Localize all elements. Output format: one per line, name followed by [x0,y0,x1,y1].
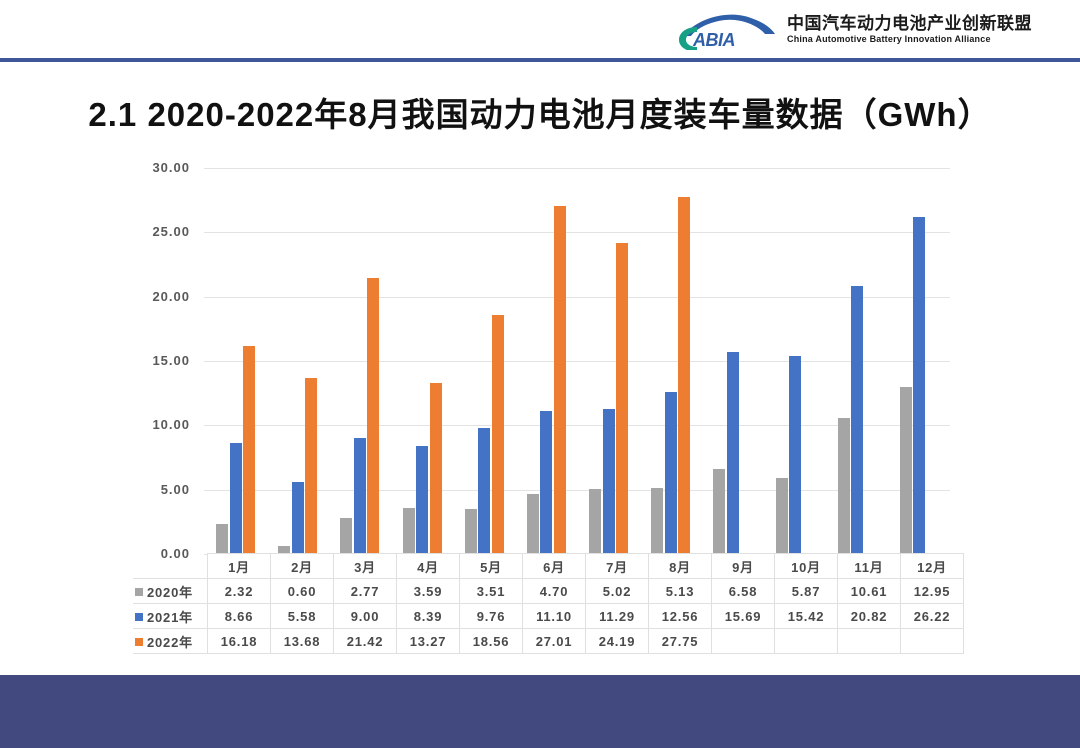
table-column-header: 5月 [460,554,523,579]
table-cell: 13.27 [397,629,460,654]
bar-2022年-1月 [243,346,255,554]
table-cell: 9.00 [334,604,397,629]
table-header-row: 1月2月3月4月5月6月7月8月9月10月11月12月 [133,554,964,579]
table-cell: 10.61 [838,579,901,604]
bar-2021年-4月 [416,446,428,554]
bar-2020年-6月 [527,494,539,554]
bar-group [888,168,950,554]
page-header: ABIA 中国汽车动力电池产业创新联盟 China Automotive Bat… [0,0,1080,58]
bar-2021年-2月 [292,482,304,554]
bar-group [515,168,577,554]
table-column-header: 3月 [334,554,397,579]
bar-group [639,168,701,554]
table-corner-cell [133,554,208,579]
plot-area: 0.005.0010.0015.0020.0025.0030.00 [204,168,950,554]
table-cell: 20.82 [838,604,901,629]
brand-logo-block: ABIA 中国汽车动力电池产业创新联盟 China Automotive Bat… [669,8,1032,52]
bar-2021年-1月 [230,443,242,554]
bar-group [453,168,515,554]
bar-2022年-6月 [554,206,566,554]
table-column-header: 10月 [775,554,838,579]
header-divider [0,58,1080,62]
bar-group [577,168,639,554]
legend-swatch-icon [135,638,143,646]
footer-band [0,675,1080,748]
table-cell: 3.59 [397,579,460,604]
bar-2020年-3月 [340,518,352,554]
y-axis-tick-label: 15.00 [114,353,190,368]
table-row: 2022年16.1813.6821.4213.2718.5627.0124.19… [133,629,964,654]
page-title: 2.1 2020-2022年8月我国动力电池月度装车量数据（GWh） [0,88,1080,136]
table-column-header: 8月 [649,554,712,579]
bar-2021年-12月 [913,217,925,554]
table-cell: 6.58 [712,579,775,604]
table-cell [838,629,901,654]
org-name-en: China Automotive Battery Innovation Alli… [787,35,1032,44]
y-axis-tick-label: 30.00 [114,160,190,175]
table-cell [901,629,964,654]
table-column-header: 11月 [838,554,901,579]
bar-group [391,168,453,554]
bar-2020年-12月 [900,387,912,554]
table-cell: 15.69 [712,604,775,629]
table-cell: 2.77 [334,579,397,604]
table-cell: 18.56 [460,629,523,654]
table-column-header: 4月 [397,554,460,579]
table-column-header: 1月 [208,554,271,579]
table-cell: 2.32 [208,579,271,604]
table-cell [712,629,775,654]
bar-2020年-4月 [403,508,415,554]
bar-2022年-4月 [430,383,442,554]
bar-2021年-5月 [478,428,490,554]
table-cell: 8.66 [208,604,271,629]
bar-2021年-11月 [851,286,863,554]
bar-2021年-3月 [354,438,366,554]
table-cell [775,629,838,654]
bar-2020年-7月 [589,489,601,554]
y-axis-tick-label: 5.00 [114,482,190,497]
table-cell: 8.39 [397,604,460,629]
bar-2020年-11月 [838,418,850,555]
table-column-header: 6月 [523,554,586,579]
table-cell: 13.68 [271,629,334,654]
y-axis-tick-label: 10.00 [114,417,190,432]
bar-group [701,168,763,554]
series-legend-label: 2022年 [133,629,208,654]
table-column-header: 9月 [712,554,775,579]
table-cell: 3.51 [460,579,523,604]
bar-2022年-3月 [367,278,379,554]
bar-2020年-9月 [713,469,725,554]
bar-group [266,168,328,554]
table-cell: 9.76 [460,604,523,629]
series-legend-label: 2020年 [133,579,208,604]
table-cell: 16.18 [208,629,271,654]
table-cell: 5.58 [271,604,334,629]
bar-2021年-7月 [603,409,615,554]
table-cell: 15.42 [775,604,838,629]
bar-2020年-1月 [216,524,228,554]
table-cell: 26.22 [901,604,964,629]
bar-2020年-8月 [651,488,663,554]
table-cell: 27.75 [649,629,712,654]
series-legend-label: 2021年 [133,604,208,629]
bar-group [328,168,390,554]
cabia-car-logo-icon: ABIA [669,10,777,50]
table-cell: 5.13 [649,579,712,604]
table-column-header: 2月 [271,554,334,579]
table-row: 2021年8.665.589.008.399.7611.1011.2912.56… [133,604,964,629]
bar-group [764,168,826,554]
bar-2020年-10月 [776,478,788,554]
bar-2021年-6月 [540,411,552,554]
table-row: 2020年2.320.602.773.593.514.705.025.136.5… [133,579,964,604]
chart-data-table: 1月2月3月4月5月6月7月8月9月10月11月12月 2020年2.320.6… [133,553,964,654]
bar-2022年-8月 [678,197,690,554]
table-cell: 24.19 [586,629,649,654]
bar-2022年-7月 [616,243,628,554]
svg-text:ABIA: ABIA [692,30,735,50]
y-axis-tick-label: 20.00 [114,289,190,304]
table-cell: 27.01 [523,629,586,654]
bar-group [826,168,888,554]
table-column-header: 12月 [901,554,964,579]
table-cell: 5.02 [586,579,649,604]
table-column-header: 7月 [586,554,649,579]
bar-2021年-10月 [789,356,801,554]
table-cell: 0.60 [271,579,334,604]
table-cell: 4.70 [523,579,586,604]
table-header: 1月2月3月4月5月6月7月8月9月10月11月12月 [133,554,964,579]
bar-group [204,168,266,554]
table-body: 2020年2.320.602.773.593.514.705.025.136.5… [133,579,964,654]
bar-2021年-8月 [665,392,677,554]
table-cell: 21.42 [334,629,397,654]
bar-2022年-2月 [305,378,317,554]
bar-2020年-5月 [465,509,477,554]
bar-2021年-9月 [727,352,739,554]
legend-swatch-icon [135,613,143,621]
org-name-cn: 中国汽车动力电池产业创新联盟 [787,15,1032,33]
y-axis-tick-label: 25.00 [114,224,190,239]
table-cell: 12.95 [901,579,964,604]
legend-swatch-icon [135,588,143,596]
org-names: 中国汽车动力电池产业创新联盟 China Automotive Battery … [787,15,1032,44]
table-cell: 5.87 [775,579,838,604]
bar-2022年-5月 [492,315,504,554]
chart: 0.005.0010.0015.0020.0025.0030.00 [120,150,960,570]
table-cell: 11.29 [586,604,649,629]
table-cell: 12.56 [649,604,712,629]
table-cell: 11.10 [523,604,586,629]
